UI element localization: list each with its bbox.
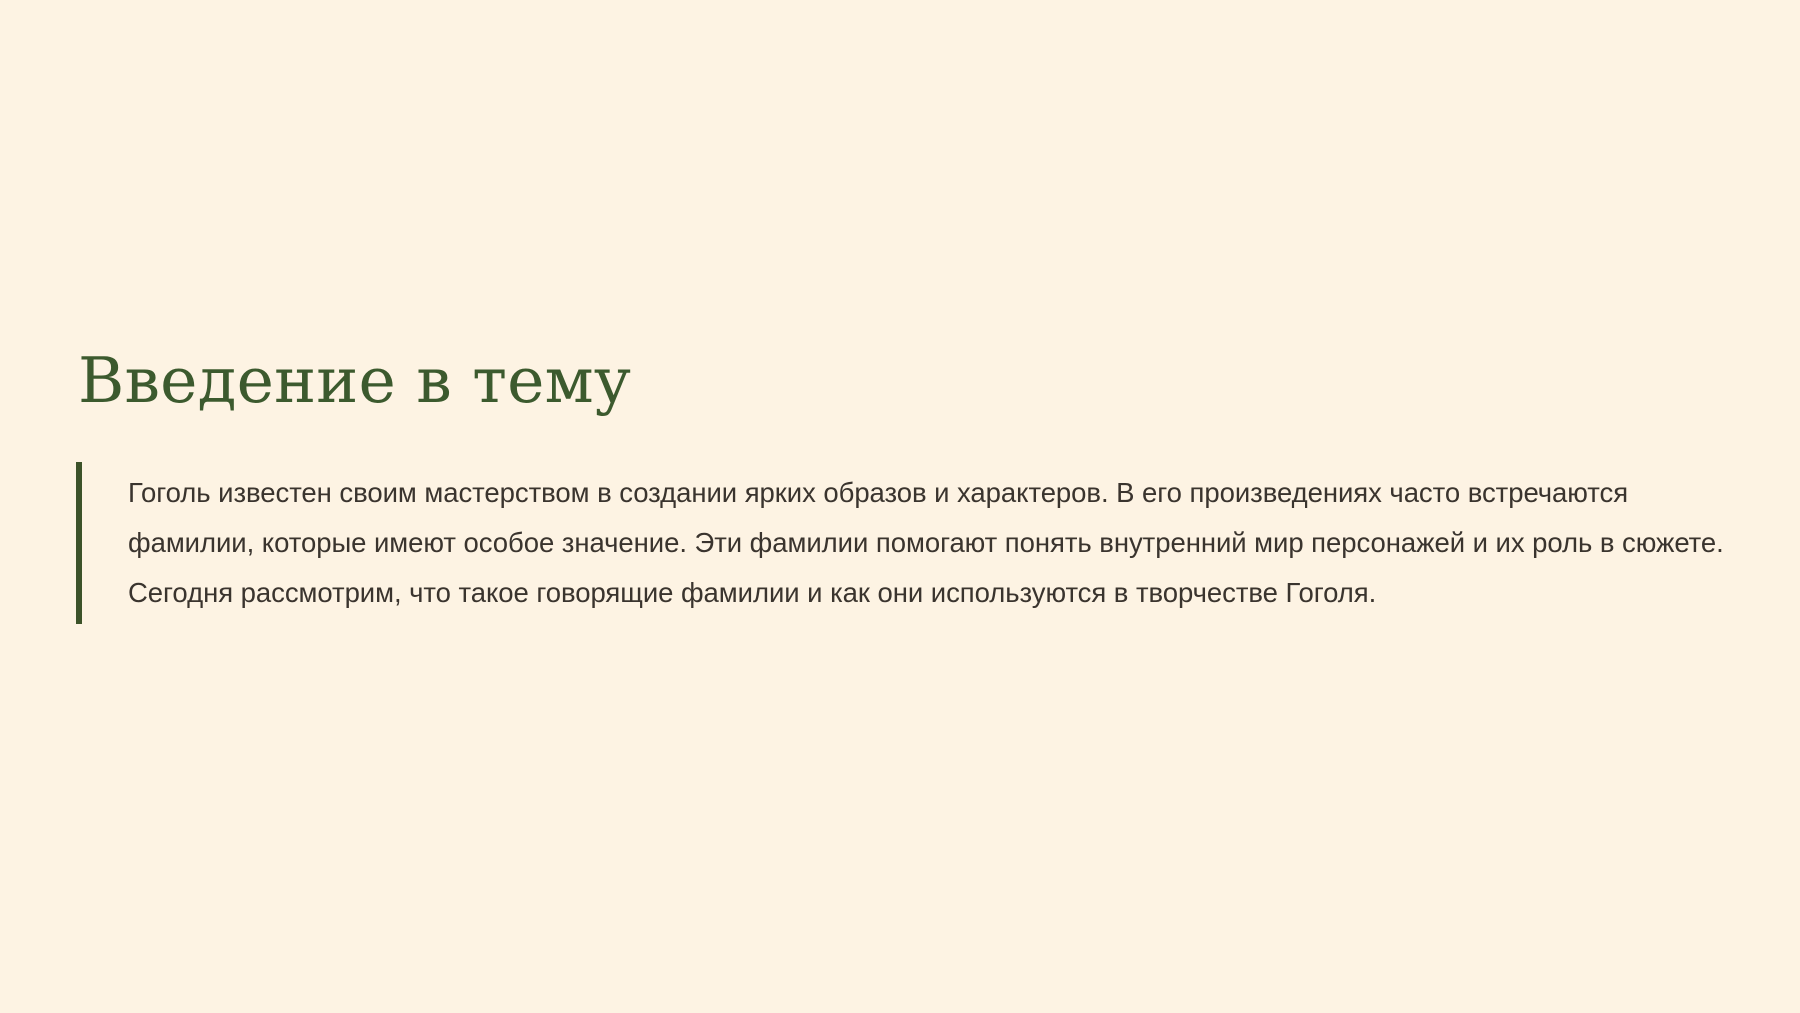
page-title: Введение в тему — [78, 348, 1736, 414]
slide-content: Введение в тему Гоголь известен своим ма… — [76, 348, 1736, 624]
slide-canvas: Введение в тему Гоголь известен своим ма… — [0, 0, 1800, 1013]
quote-block: Гоголь известен своим мастерством в созд… — [76, 462, 1736, 624]
body-paragraph: Гоголь известен своим мастерством в созд… — [82, 462, 1733, 624]
